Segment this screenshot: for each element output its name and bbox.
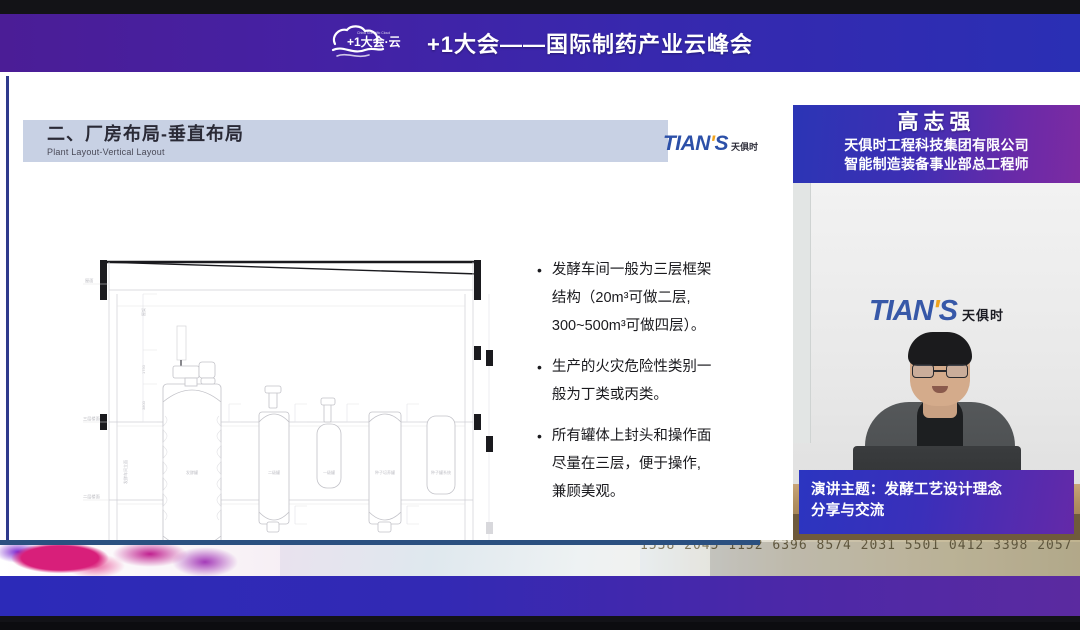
speaker-hair bbox=[908, 332, 972, 366]
svg-text:+1大会·云: +1大会·云 bbox=[347, 34, 401, 49]
topic-text-1: 发酵工艺设计理念 bbox=[885, 482, 1003, 498]
bullet-2-line-2: 般为丁类或丙类。 bbox=[552, 381, 712, 409]
topic-line-1: 演讲主题：发酵工艺设计理念 bbox=[811, 480, 1074, 501]
bullet-1-line-2: 结构（20m³可做二层, bbox=[552, 284, 712, 312]
video-panel: 高志强 天俱时工程科技集团有限公司 智能制造装备事业部总工程师 TIAN'S 天… bbox=[793, 105, 1080, 542]
wall-brand-latin: TIAN bbox=[869, 295, 933, 327]
bullet-3-line-2: 尽量在三层，便于操作, bbox=[552, 450, 712, 478]
plant-section-drawing: .ln{stroke:#cfcfd4;stroke-width:.7;fill:… bbox=[81, 254, 521, 584]
topic-banner: 演讲主题：发酵工艺设计理念 分享与交流 bbox=[799, 470, 1074, 534]
brand-tians-text: TIAN'S bbox=[663, 132, 728, 156]
svg-text:发酵罐: 发酵罐 bbox=[186, 469, 198, 475]
slide-brand-logo: TIAN'S 天俱时 bbox=[663, 132, 758, 156]
speaker-head bbox=[910, 336, 970, 406]
glasses-bridge bbox=[934, 370, 946, 372]
svg-text:二级罐: 二级罐 bbox=[268, 469, 280, 475]
brand-latin: TIAN bbox=[663, 132, 710, 155]
speaker-organization: 天俱时工程科技集团有限公司 bbox=[797, 136, 1076, 155]
top-letterbox-bar bbox=[0, 0, 1080, 14]
speaker-name: 高志强 bbox=[797, 109, 1076, 136]
brand-cn-text: 天俱时 bbox=[731, 140, 758, 156]
wall-brand-cn: 天俱时 bbox=[962, 305, 1004, 328]
glasses-lens-left bbox=[912, 364, 934, 378]
decorative-footer: 1538 2045 1152 6396 8574 2031 5501 0412 … bbox=[0, 540, 1080, 622]
svg-text:发酵车间立面: 发酵车间立面 bbox=[122, 460, 128, 484]
svg-text:3800: 3800 bbox=[141, 400, 146, 410]
svg-text:三层楼面: 三层楼面 bbox=[83, 415, 100, 422]
wall-brand-logo: TIAN'S 天俱时 bbox=[793, 295, 1080, 328]
bullet-item: • 发酵车间一般为三层框架 结构（20m³可做二层, 300~500m³可做四层… bbox=[537, 256, 777, 340]
presentation-slide: 二、厂房布局-垂直布局 Plant Layout-Vertical Layout… bbox=[6, 76, 792, 542]
svg-text:China Scientific Cloud: China Scientific Cloud bbox=[357, 31, 390, 35]
bullet-dot-icon: • bbox=[537, 256, 542, 340]
number-pattern-graphic: 1538 2045 1152 6396 8574 2031 5501 0412 … bbox=[640, 540, 1080, 576]
event-title: +1大会——国际制药产业云峰会 bbox=[427, 27, 753, 59]
svg-text:二层楼面: 二层楼面 bbox=[83, 493, 100, 500]
bullet-dot-icon: • bbox=[537, 422, 542, 506]
bullet-1-line-1: 发酵车间一般为三层框架 bbox=[552, 256, 712, 284]
event-header: +1大会·云 China Scientific Cloud +1大会——国际制药… bbox=[0, 14, 1080, 72]
decor-texture-strip: 1538 2045 1152 6396 8574 2031 5501 0412 … bbox=[0, 540, 1080, 576]
svg-text:1750: 1750 bbox=[141, 364, 146, 374]
svg-text:屋架: 屋架 bbox=[140, 308, 146, 316]
bullet-dot-icon: • bbox=[537, 353, 542, 409]
topic-line-2: 分享与交流 bbox=[811, 501, 1074, 522]
speaker-info-banner: 高志强 天俱时工程科技集团有限公司 智能制造装备事业部总工程师 bbox=[793, 105, 1080, 183]
slide-title-band: 二、厂房布局-垂直布局 Plant Layout-Vertical Layout bbox=[23, 120, 668, 162]
glasses-lens-right bbox=[946, 364, 968, 378]
bottom-letterbox-bar bbox=[0, 616, 1080, 622]
bullet-3-line-3: 兼顾美观。 bbox=[552, 478, 712, 506]
topic-label: 演讲主题： bbox=[811, 482, 885, 498]
glasses-icon bbox=[912, 364, 968, 378]
bullet-3-line-1: 所有罐体上封头和操作面 bbox=[552, 422, 712, 450]
speaker-role: 智能制造装备事业部总工程师 bbox=[797, 155, 1076, 174]
wall-brand-s: S bbox=[939, 295, 957, 327]
decor-blue-tab bbox=[0, 540, 760, 545]
brand-s: S bbox=[714, 132, 728, 155]
speaker-mouth bbox=[932, 386, 948, 393]
wall-brand-tians: TIAN'S bbox=[869, 295, 957, 328]
screen-root: +1大会·云 China Scientific Cloud +1大会——国际制药… bbox=[0, 0, 1080, 630]
event-logo-icon: +1大会·云 China Scientific Cloud bbox=[327, 24, 413, 62]
svg-text:一级罐: 一级罐 bbox=[323, 469, 335, 475]
webcam-feed[interactable]: TIAN'S 天俱时 bbox=[793, 183, 1080, 542]
bullet-1-line-3: 300~500m³可做四层）。 bbox=[552, 312, 712, 340]
bullet-item: • 生产的火灾危险性类别一 般为丁类或丙类。 bbox=[537, 353, 777, 409]
bullet-2-line-1: 生产的火灾危险性类别一 bbox=[552, 353, 712, 381]
slide-title-cn: 二、厂房布局-垂直布局 bbox=[47, 123, 668, 146]
bullet-item: • 所有罐体上封头和操作面 尽量在三层，便于操作, 兼顾美观。 bbox=[537, 422, 777, 506]
paint-splash-graphic bbox=[0, 540, 300, 576]
bullet-list: • 发酵车间一般为三层框架 结构（20m³可做二层, 300~500m³可做四层… bbox=[537, 256, 777, 506]
slide-title-en: Plant Layout-Vertical Layout bbox=[47, 146, 668, 158]
svg-text:种子培养罐: 种子培养罐 bbox=[375, 469, 395, 475]
decor-color-band bbox=[0, 576, 1080, 616]
svg-text:种子罐系统: 种子罐系统 bbox=[431, 469, 451, 475]
